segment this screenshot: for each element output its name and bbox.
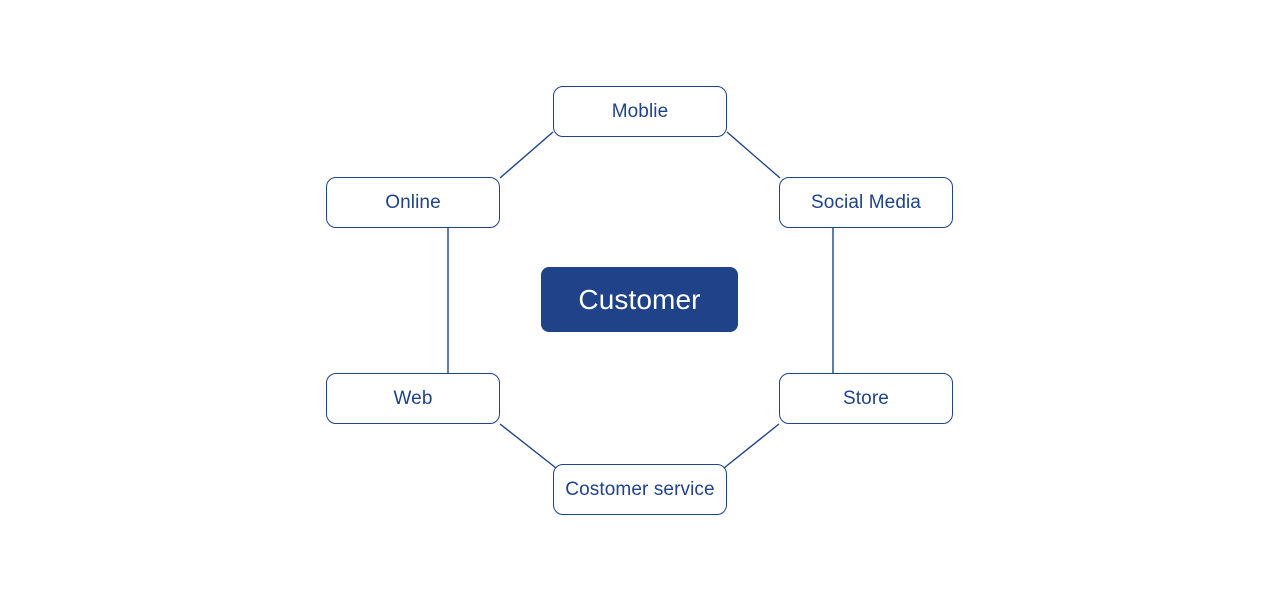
node-social-media-label: Social Media xyxy=(811,193,921,212)
node-web[interactable]: Web xyxy=(326,373,500,424)
connector-store-customer-service xyxy=(724,424,779,468)
node-store[interactable]: Store xyxy=(779,373,953,424)
connector-online-mobile xyxy=(500,132,553,178)
node-customer-service-label: Costomer service xyxy=(565,480,714,499)
node-mobile[interactable]: Moblie xyxy=(553,86,727,137)
node-mobile-label: Moblie xyxy=(612,102,669,121)
node-web-label: Web xyxy=(393,389,432,408)
connector-mobile-social-media xyxy=(727,132,780,178)
connector-web-customer-service xyxy=(500,424,556,468)
node-customer-center[interactable]: Customer xyxy=(541,267,738,332)
node-social-media[interactable]: Social Media xyxy=(779,177,953,228)
node-online[interactable]: Online xyxy=(326,177,500,228)
node-online-label: Online xyxy=(385,193,441,212)
node-store-label: Store xyxy=(843,389,889,408)
node-customer-label: Customer xyxy=(578,286,700,314)
node-customer-service[interactable]: Costomer service xyxy=(553,464,727,515)
diagram-canvas: Moblie Social Media Store Costomer servi… xyxy=(0,0,1280,600)
